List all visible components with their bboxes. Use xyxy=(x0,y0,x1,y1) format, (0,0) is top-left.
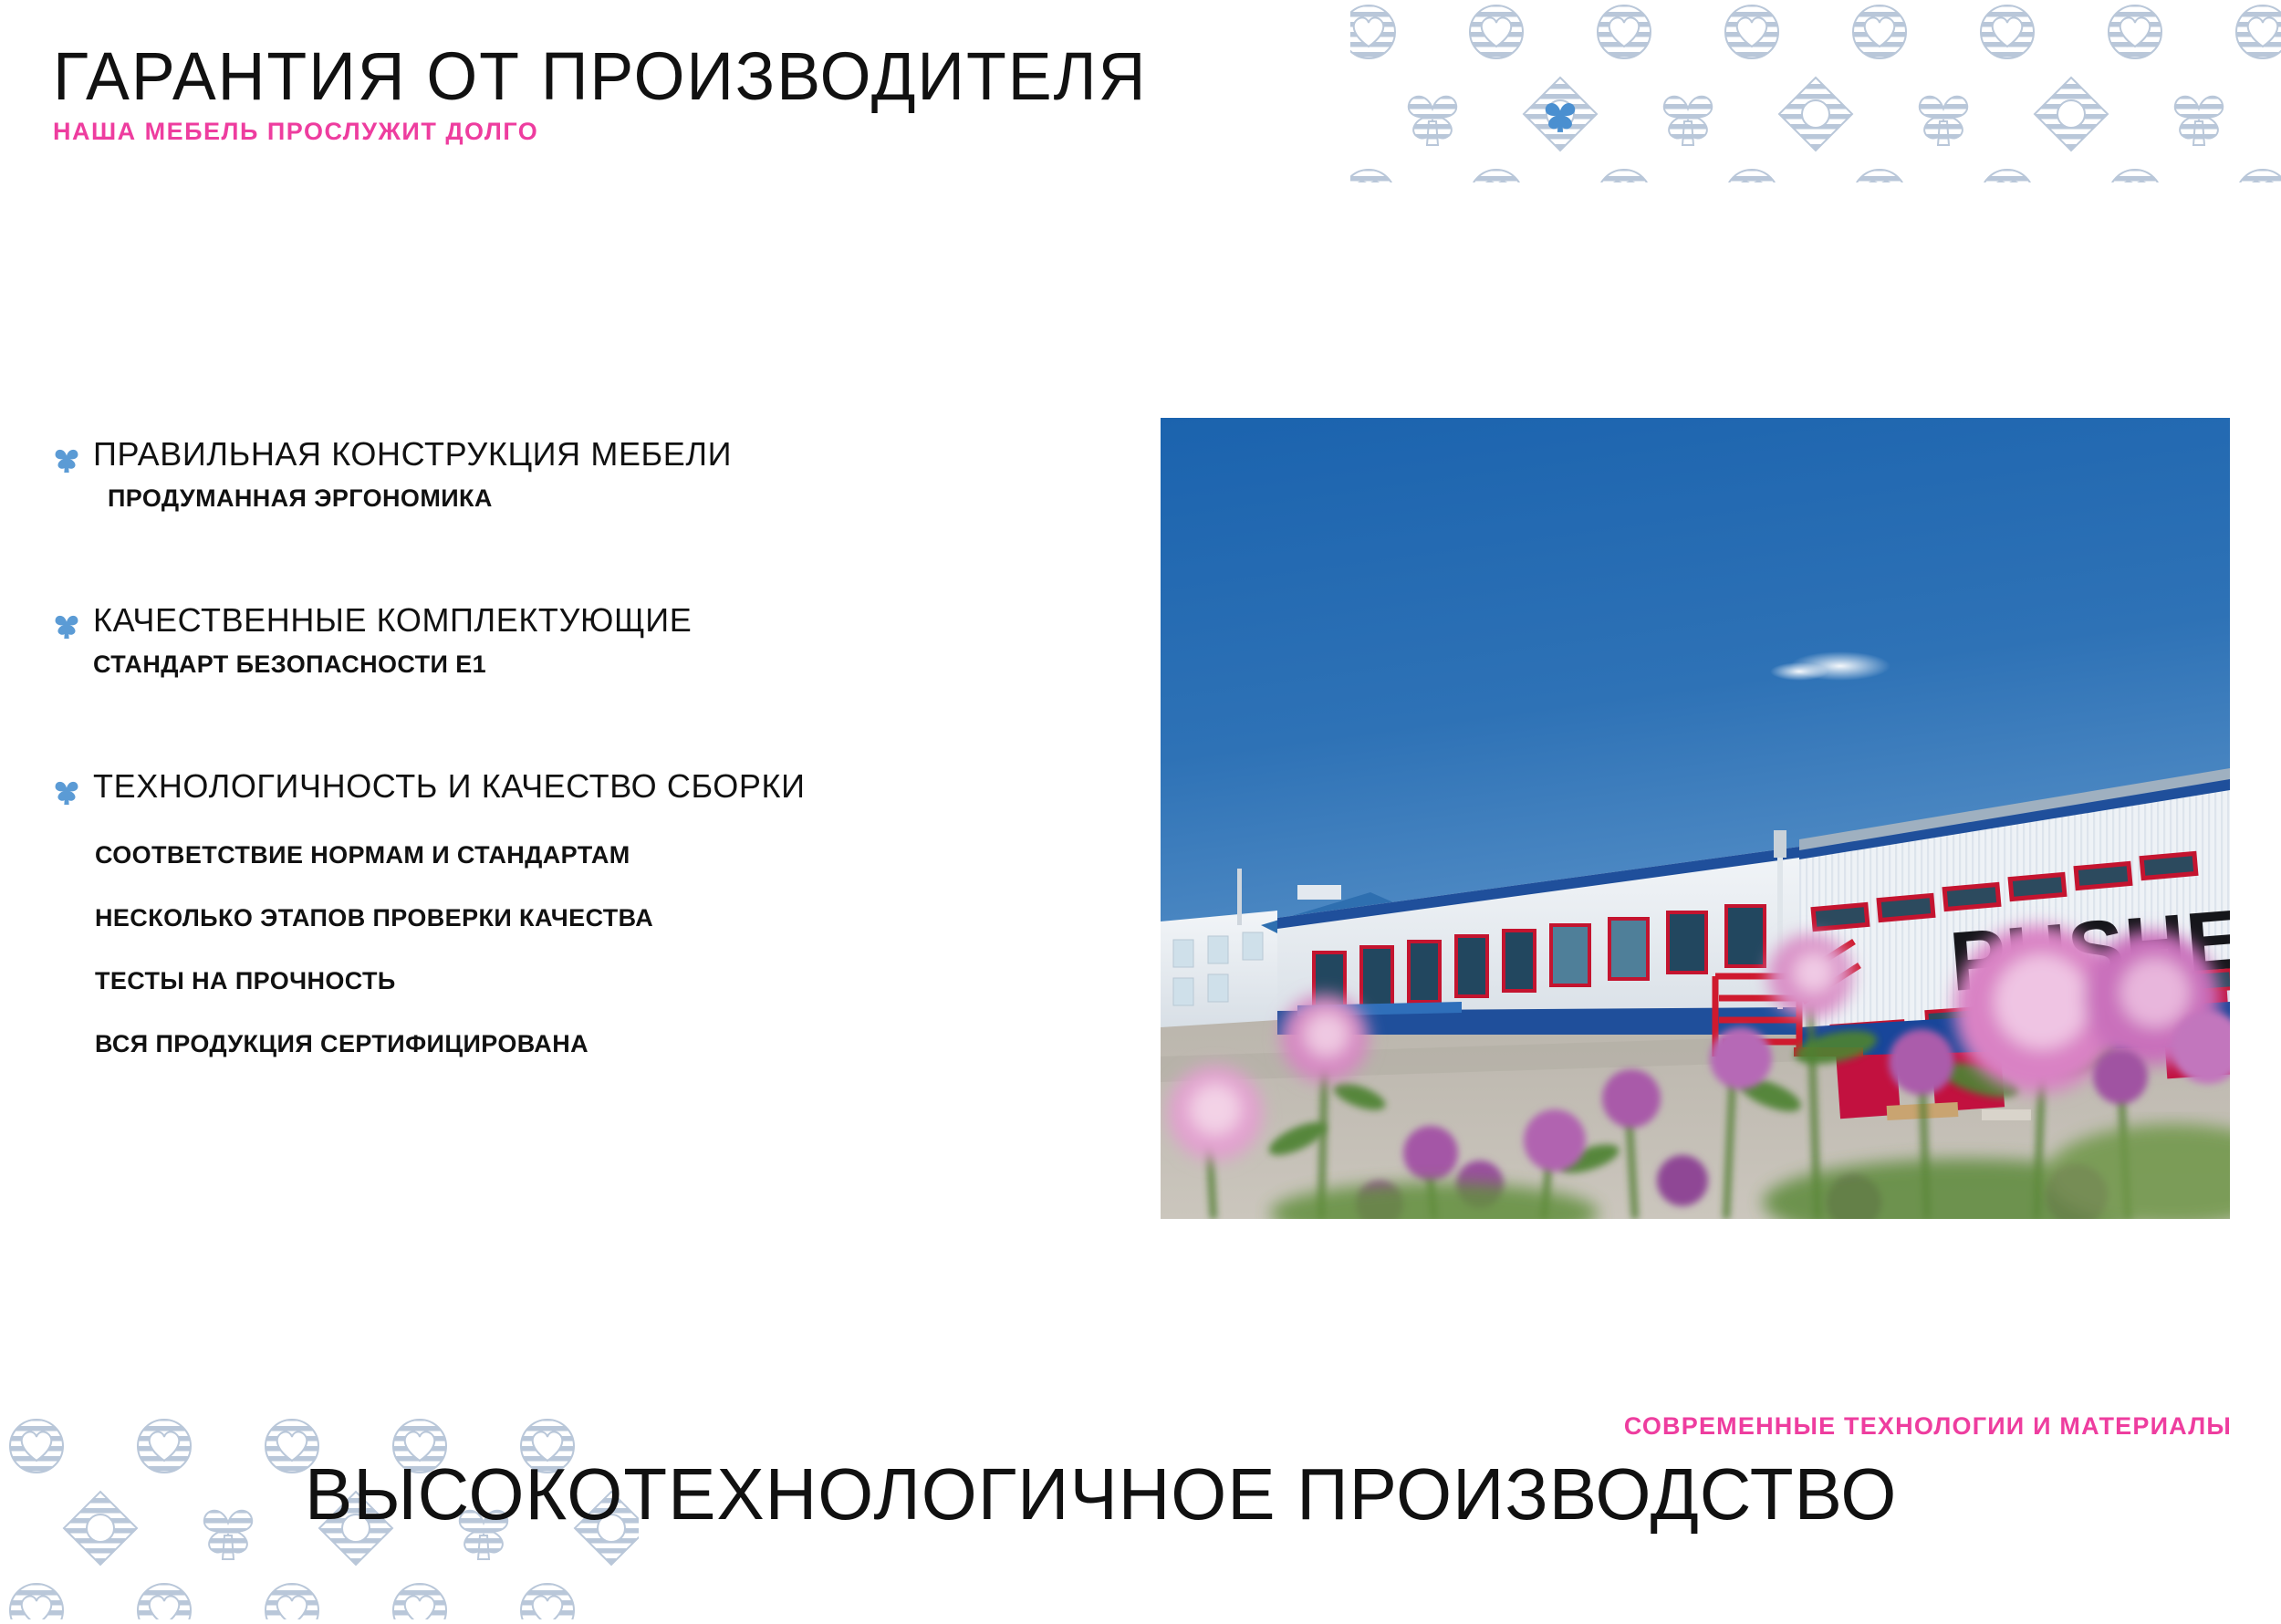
feature-subtitle: ПРОДУМАННАЯ ЭРГОНОМИКА xyxy=(108,484,1130,513)
feature-subtitle: СТАНДАРТ БЕЗОПАСНОСТИ Е1 xyxy=(93,651,1130,679)
clover-icon xyxy=(53,776,80,807)
ornament-pattern-top-right xyxy=(1350,0,2281,182)
page-subtitle: НАША МЕБЕЛЬ ПРОСЛУЖИТ ДОЛГО xyxy=(53,118,1181,146)
sub-point: НЕСКОЛЬКО ЭТАПОВ ПРОВЕРКИ КАЧЕСТВА xyxy=(95,904,1130,932)
blue-clover-accent-icon xyxy=(1546,103,1576,132)
sub-point: СООТВЕТСТВИЕ НОРМАМ И СТАНДАРТАМ xyxy=(95,841,1130,869)
feature-item: ТЕХНОЛОГИЧНОСТЬ И КАЧЕСТВО СБОРКИ СООТВЕ… xyxy=(53,768,1130,1058)
sub-point: ТЕСТЫ НА ПРОЧНОСТЬ xyxy=(95,967,1130,995)
heart-circle-icon xyxy=(1350,5,2281,58)
clover-icon xyxy=(53,443,80,474)
feature-title: КАЧЕСТВЕННЫЕ КОМПЛЕКТУЮЩИЕ xyxy=(93,602,692,639)
footer-title: ВЫСОКОТЕХНОЛОГИЧНОЕ ПРОИЗВОДСТВО xyxy=(305,1452,1897,1536)
heart-circle-icon xyxy=(10,1584,574,1619)
sub-point: ВСЯ ПРОДУКЦИЯ СЕРТИФИЦИРОВАНА xyxy=(95,1030,1130,1058)
feature-list: ПРАВИЛЬНАЯ КОНСТРУКЦИЯ МЕБЕЛИ ПРОДУМАННА… xyxy=(53,436,1130,1058)
header-block: ГАРАНТИЯ ОТ ПРОИЗВОДИТЕЛЯ НАША МЕБЕЛЬ ПР… xyxy=(53,44,1181,146)
feature-title: ТЕХНОЛОГИЧНОСТЬ И КАЧЕСТВО СБОРКИ xyxy=(93,768,806,805)
clover-icon xyxy=(1409,97,2223,145)
sub-point-list: СООТВЕТСТВИЕ НОРМАМ И СТАНДАРТАМ НЕСКОЛЬ… xyxy=(95,841,1130,1058)
feature-title: ПРАВИЛЬНАЯ КОНСТРУКЦИЯ МЕБЕЛИ xyxy=(93,436,732,473)
clover-icon xyxy=(53,609,80,640)
heart-circle-icon xyxy=(1350,170,2281,182)
feature-item: ПРАВИЛЬНАЯ КОНСТРУКЦИЯ МЕБЕЛИ ПРОДУМАННА… xyxy=(53,436,1130,513)
factory-photo: PUSHE xyxy=(1161,418,2230,1219)
feature-item: КАЧЕСТВЕННЫЕ КОМПЛЕКТУЮЩИЕ СТАНДАРТ БЕЗО… xyxy=(53,602,1130,679)
footer-subtitle: СОВРЕМЕННЫЕ ТЕХНОЛОГИИ И МАТЕРИАЛЫ xyxy=(1624,1412,2232,1441)
page-title: ГАРАНТИЯ ОТ ПРОИЗВОДИТЕЛЯ xyxy=(53,44,1147,110)
diamond-icon xyxy=(1350,78,2281,151)
